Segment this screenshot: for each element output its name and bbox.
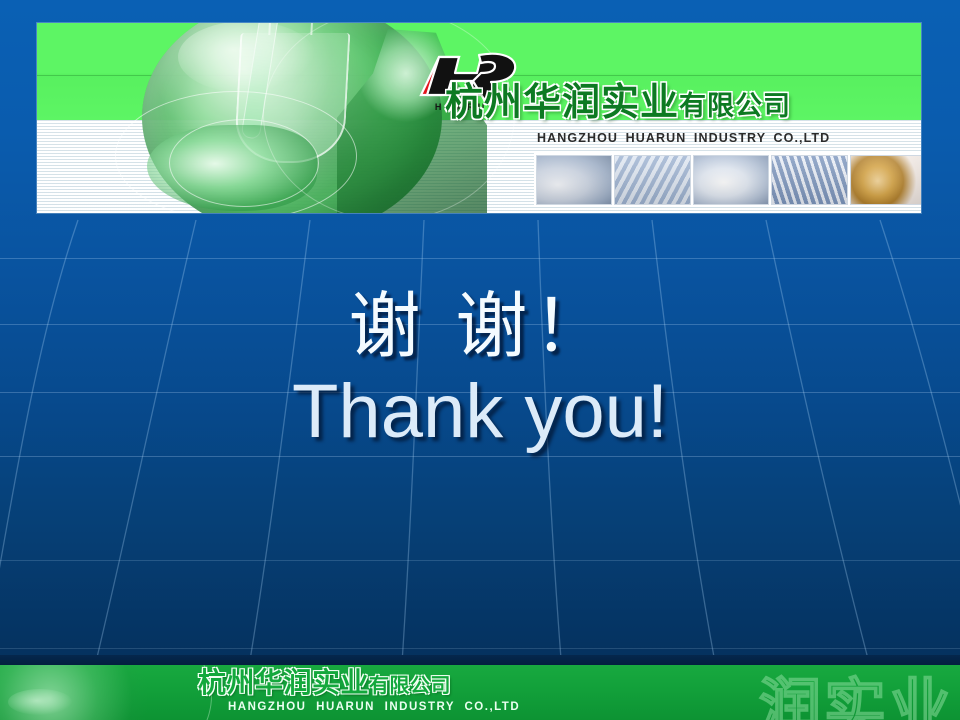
company-header-banner: HUARUN 杭州华润实业有限公司 HANGZHOU HUARUN INDUST… — [37, 23, 921, 213]
banner-company-name-cn-main: 杭州华润实业 — [445, 80, 679, 124]
product-photo — [614, 155, 690, 205]
footer-sphere-graphic — [0, 665, 164, 720]
footer-company-suffix-cn: 有限公司 — [369, 673, 451, 697]
product-photo — [693, 155, 769, 205]
product-photo-strip — [534, 153, 921, 207]
footer-company-name-cn: 杭州华润实业有限公司 — [198, 669, 451, 697]
product-photo — [536, 155, 612, 205]
presentation-slide: HUARUN 杭州华润实业有限公司 HANGZHOU HUARUN INDUST… — [0, 0, 960, 720]
hands-sample-photo — [147, 125, 317, 211]
product-photo — [771, 155, 847, 205]
page-title-en: Thank you! — [0, 372, 960, 452]
footer-company-name-en: HANGZHOU HUARUN INDUSTRY CO.,LTD — [228, 701, 520, 713]
banner-company-name-en: HANGZHOU HUARUN INDUSTRY CO.,LTD — [537, 131, 830, 145]
footer-watermark-text: 润实业 — [759, 665, 954, 720]
product-photo — [850, 155, 921, 205]
banner-company-suffix-cn: 有限公司 — [679, 91, 791, 122]
page-title-cn: 谢 谢！ — [0, 288, 960, 366]
footer-company-name-cn-main: 杭州华润实业 — [198, 666, 369, 699]
footer-divider — [0, 655, 960, 665]
slide-footer: 润实业 杭州华润实业有限公司 HANGZHOU HUARUN INDUSTRY … — [0, 665, 960, 720]
slide-body: 谢 谢！ Thank you! — [0, 288, 960, 452]
banner-company-name-cn: 杭州华润实业有限公司 — [445, 83, 791, 121]
